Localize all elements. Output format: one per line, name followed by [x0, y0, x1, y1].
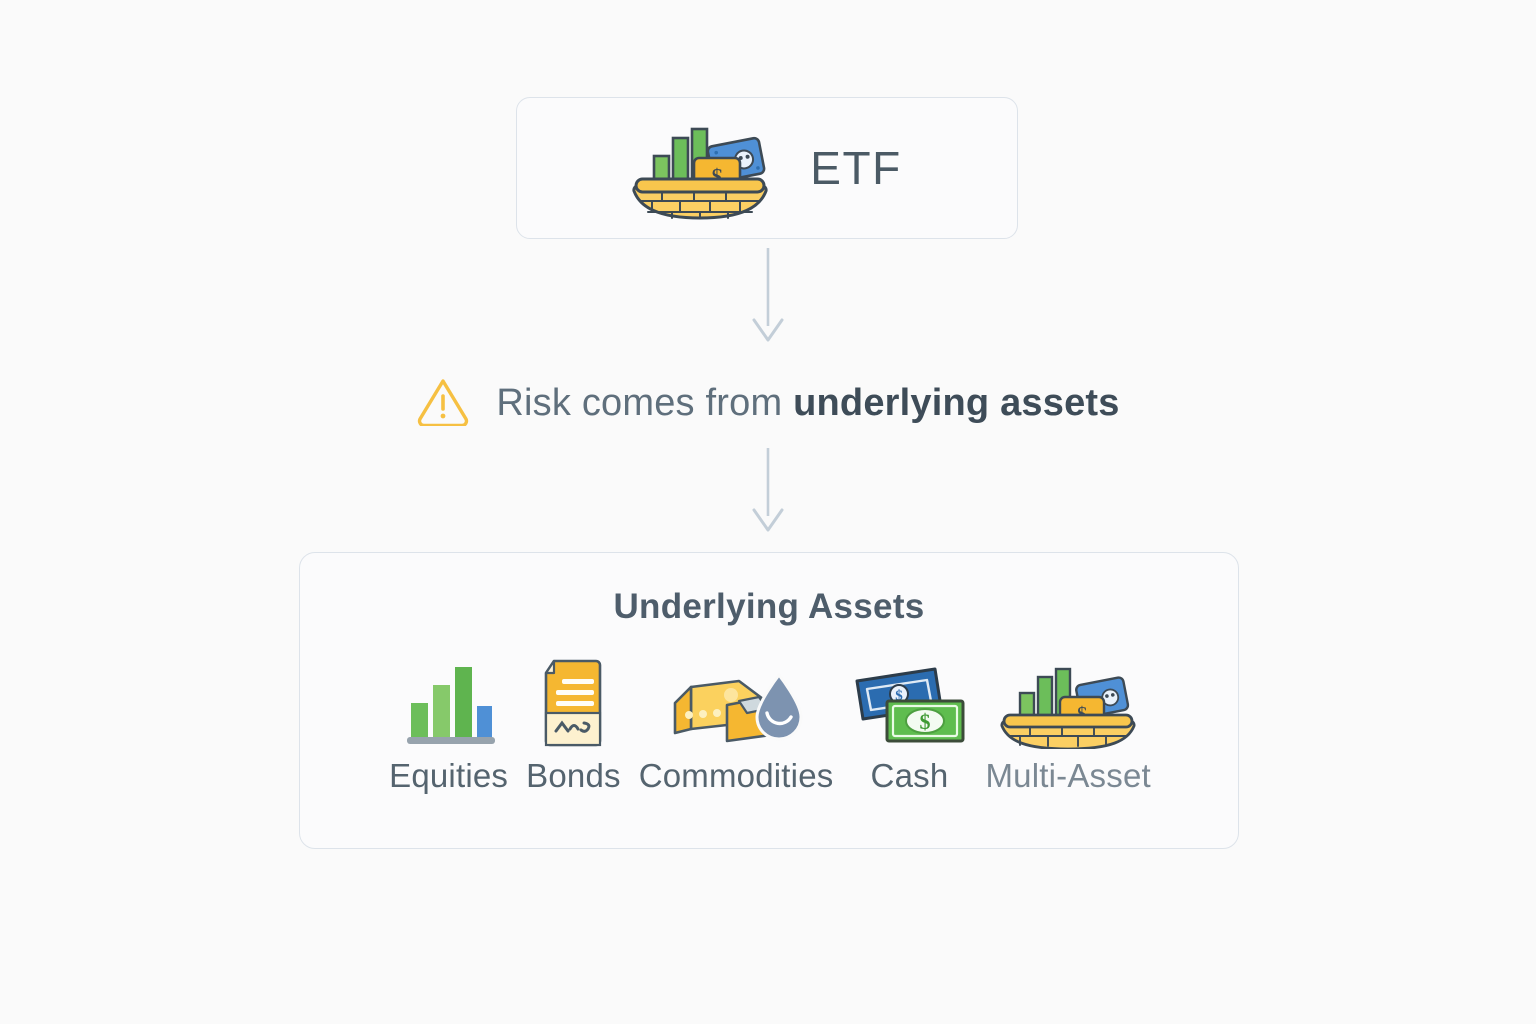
arrow-risk-to-assets: [742, 448, 794, 534]
asset-label-cash: Cash: [871, 757, 949, 795]
assets-panel-title: Underlying Assets: [300, 587, 1238, 627]
gold-oil-icon: [667, 657, 805, 749]
asset-label-bonds: Bonds: [526, 757, 621, 795]
etf-card[interactable]: $ ETF: [516, 97, 1018, 239]
svg-text:$: $: [920, 709, 931, 734]
basket-icon: $: [998, 657, 1138, 749]
risk-note-text: Risk comes from underlying assets: [496, 382, 1119, 425]
bar-chart-icon: [399, 657, 499, 749]
etf-basket-icon: $: [632, 116, 768, 220]
assets-list: Equities: [300, 657, 1240, 795]
asset-item-commodities[interactable]: Commodities: [639, 657, 834, 795]
underlying-assets-panel: Underlying Assets Equities: [299, 552, 1239, 849]
risk-text-emphasis: underlying assets: [793, 382, 1120, 424]
arrow-etf-to-risk: [742, 248, 794, 344]
risk-text-prefix: Risk comes from: [496, 382, 793, 424]
asset-item-bonds[interactable]: Bonds: [526, 657, 621, 795]
etf-card-label: ETF: [810, 141, 901, 195]
asset-label-equities: Equities: [389, 757, 508, 795]
warning-triangle-icon: [416, 376, 470, 431]
asset-item-multi-asset[interactable]: $ Multi-Asset: [985, 657, 1150, 795]
diagram-canvas: $ ETF: [0, 0, 1536, 1024]
risk-note-row: Risk comes from underlying assets: [0, 376, 1536, 431]
asset-item-cash[interactable]: $ $ Cash: [851, 657, 967, 795]
asset-item-equities[interactable]: Equities: [389, 657, 508, 795]
document-icon: [532, 657, 614, 749]
asset-label-commodities: Commodities: [639, 757, 834, 795]
banknotes-icon: $ $: [851, 657, 967, 749]
asset-label-multi-asset: Multi-Asset: [985, 757, 1150, 795]
